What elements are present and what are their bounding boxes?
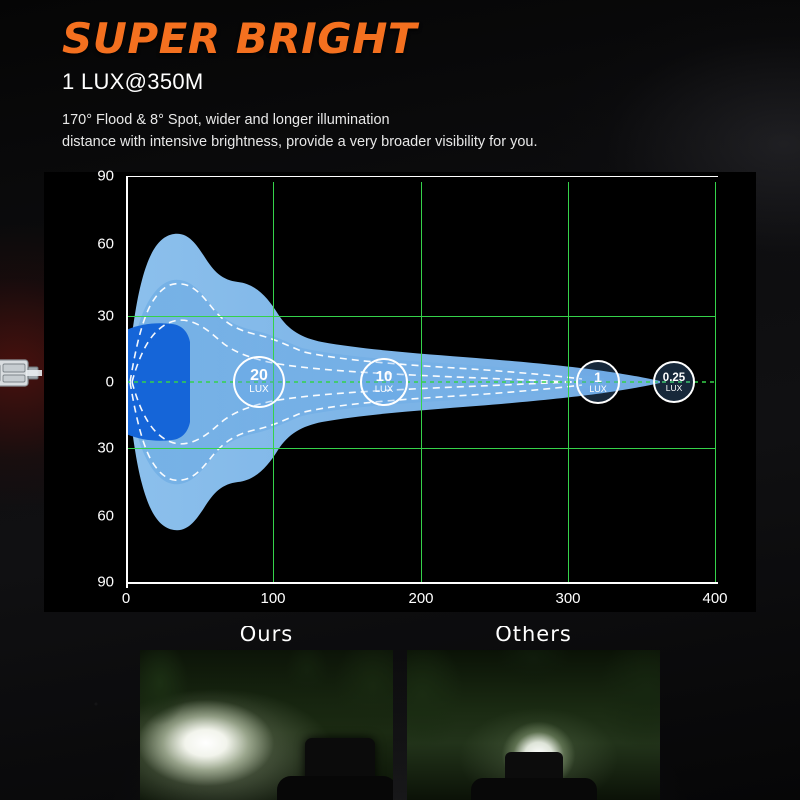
photo-image-others xyxy=(407,650,660,800)
lux-badge-20: 20 LUX xyxy=(233,356,285,408)
x-tick-100: 100 xyxy=(260,590,285,607)
description-line-1: 170° Flood & 8° Spot, wider and longer i… xyxy=(62,109,762,131)
y-tick-90-bot: 90 xyxy=(80,574,114,591)
lux-badge-025: 0.25 LUX xyxy=(653,361,695,403)
page-description: 170° Flood & 8° Spot, wider and longer i… xyxy=(62,109,762,154)
gridline-y-30-top xyxy=(126,316,716,317)
lux-badge-20-value: 20 xyxy=(250,368,268,385)
axis-top-line xyxy=(126,176,718,177)
y-tick-60-bot: 60 xyxy=(80,508,114,525)
x-tick-200: 200 xyxy=(408,590,433,607)
comparison-photos: Ours Others xyxy=(140,626,660,800)
others-lamp-silhouette xyxy=(505,752,563,800)
y-tick-60-top: 60 xyxy=(80,236,114,253)
photo-image-ours xyxy=(140,650,393,800)
gridline-x-200 xyxy=(421,182,422,582)
y-tick-0: 0 xyxy=(80,374,114,391)
lux-badge-1-value: 1 xyxy=(594,370,602,385)
y-tick-30-bot: 30 xyxy=(80,440,114,457)
lux-badge-20-unit: LUX xyxy=(249,385,268,396)
lux-badge-10-value: 10 xyxy=(376,369,393,385)
photo-card-ours: Ours xyxy=(140,626,393,800)
ours-lamp-silhouette xyxy=(305,738,375,800)
photo-label-others: Others xyxy=(407,626,660,646)
photo-label-ours: Ours xyxy=(140,626,393,646)
axis-y-line xyxy=(126,176,128,588)
lux-badge-025-value: 0.25 xyxy=(663,372,685,384)
lux-badge-10-unit: LUX xyxy=(375,385,393,395)
x-tick-400: 400 xyxy=(702,590,727,607)
page-title: SUPER BRIGHT xyxy=(62,18,762,60)
plot-area: 90 60 30 0 30 60 90 0 100 200 300 400 20… xyxy=(126,182,716,582)
x-tick-300: 300 xyxy=(555,590,580,607)
lux-badge-10: 10 LUX xyxy=(360,358,408,406)
axis-x-line xyxy=(126,582,718,584)
gridline-y-30-bot xyxy=(126,448,716,449)
x-tick-0: 0 xyxy=(122,590,130,607)
gridline-x-400 xyxy=(715,182,716,582)
y-tick-90-top: 90 xyxy=(80,168,114,185)
lux-badge-1-unit: LUX xyxy=(589,385,607,394)
header: SUPER BRIGHT 1 LUX@350M 170° Flood & 8° … xyxy=(62,18,762,154)
beam-pattern-chart: 90 60 30 0 30 60 90 0 100 200 300 400 20… xyxy=(44,172,756,612)
description-line-2: distance with intensive brightness, prov… xyxy=(62,131,762,153)
lux-badge-025-unit: LUX xyxy=(666,384,683,393)
page-subtitle: 1 LUX@350M xyxy=(62,69,762,95)
headlamp-icon xyxy=(0,352,44,394)
y-tick-30-top: 30 xyxy=(80,308,114,325)
gridline-x-300 xyxy=(568,182,569,582)
photo-card-others: Others xyxy=(407,626,660,800)
lux-badge-1: 1 LUX xyxy=(576,360,620,404)
